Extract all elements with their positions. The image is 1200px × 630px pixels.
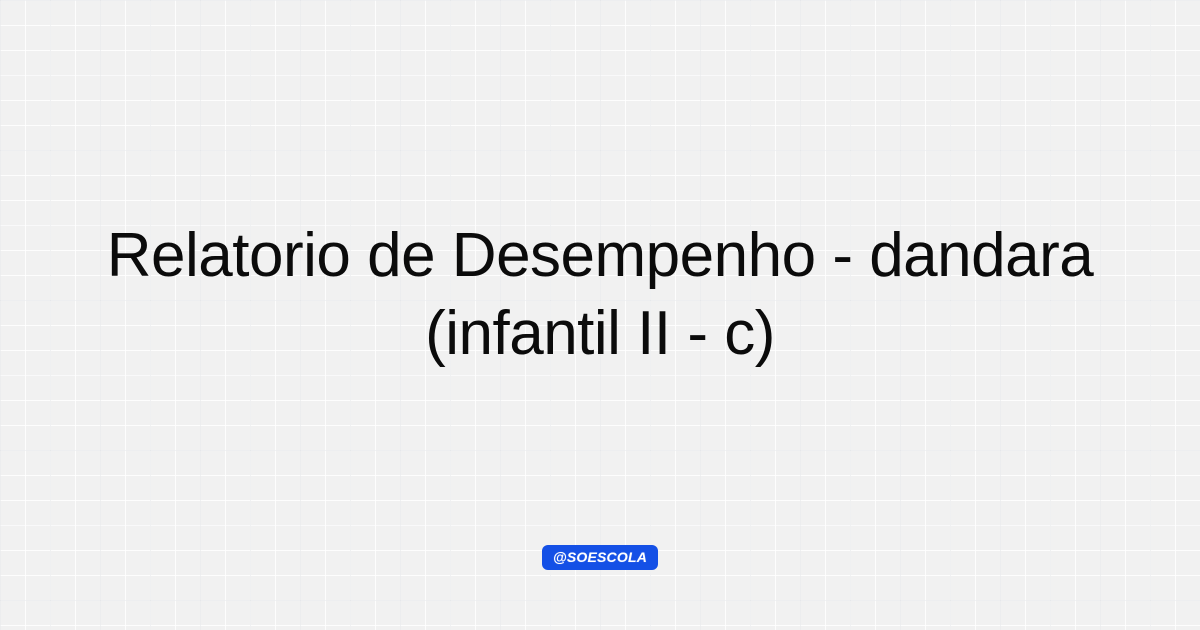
page-title-line-2: (infantil II - c): [40, 295, 1160, 373]
watermark-badge: @SOESCOLA: [542, 545, 658, 570]
watermark-badge-container: @SOESCOLA: [0, 545, 1200, 570]
page-title-line-1: Relatorio de Desempenho - dandara: [40, 217, 1160, 295]
share-card: Relatorio de Desempenho - dandara (infan…: [0, 0, 1200, 630]
page-title: Relatorio de Desempenho - dandara (infan…: [40, 217, 1160, 373]
